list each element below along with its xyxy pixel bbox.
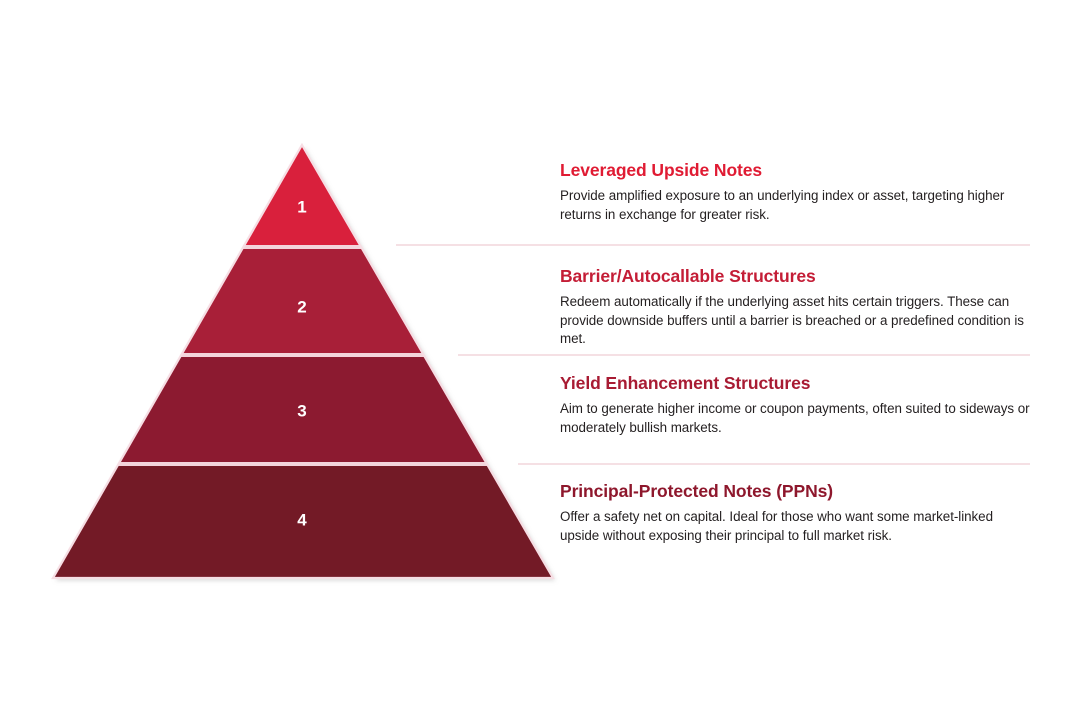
tier-heading-4[interactable]: Principal-Protected Notes (PPNs): [560, 481, 1030, 501]
tier-description-1: Leveraged Upside Notes Provide amplified…: [560, 160, 1030, 224]
tier-number-1: 1: [297, 197, 306, 216]
tier-number-3: 3: [297, 401, 306, 420]
tier-description-2: Barrier/Autocallable Structures Redeem a…: [560, 266, 1030, 349]
tier-description-3: Yield Enhancement Structures Aim to gene…: [560, 373, 1030, 437]
pyramid-graphic: 1 2 3 4: [0, 0, 1068, 712]
tier-number-2: 2: [297, 297, 306, 316]
tier-number-4: 4: [297, 510, 307, 529]
tier-body-1: Provide amplified exposure to an underly…: [560, 187, 1030, 224]
tier-heading-3[interactable]: Yield Enhancement Structures: [560, 373, 1030, 393]
pyramid-infographic: 1 2 3 4 Leveraged Upside Notes Provide a…: [0, 0, 1068, 712]
tier-body-3: Aim to generate higher income or coupon …: [560, 400, 1030, 437]
tier-body-4: Offer a safety net on capital. Ideal for…: [560, 508, 1030, 545]
tier-description-4: Principal-Protected Notes (PPNs) Offer a…: [560, 481, 1030, 545]
tier-body-2: Redeem automatically if the underlying a…: [560, 293, 1030, 349]
tier-heading-2[interactable]: Barrier/Autocallable Structures: [560, 266, 1030, 286]
pyramid-tier-1[interactable]: [40, 140, 570, 245]
tier-heading-1[interactable]: Leveraged Upside Notes: [560, 160, 1030, 180]
